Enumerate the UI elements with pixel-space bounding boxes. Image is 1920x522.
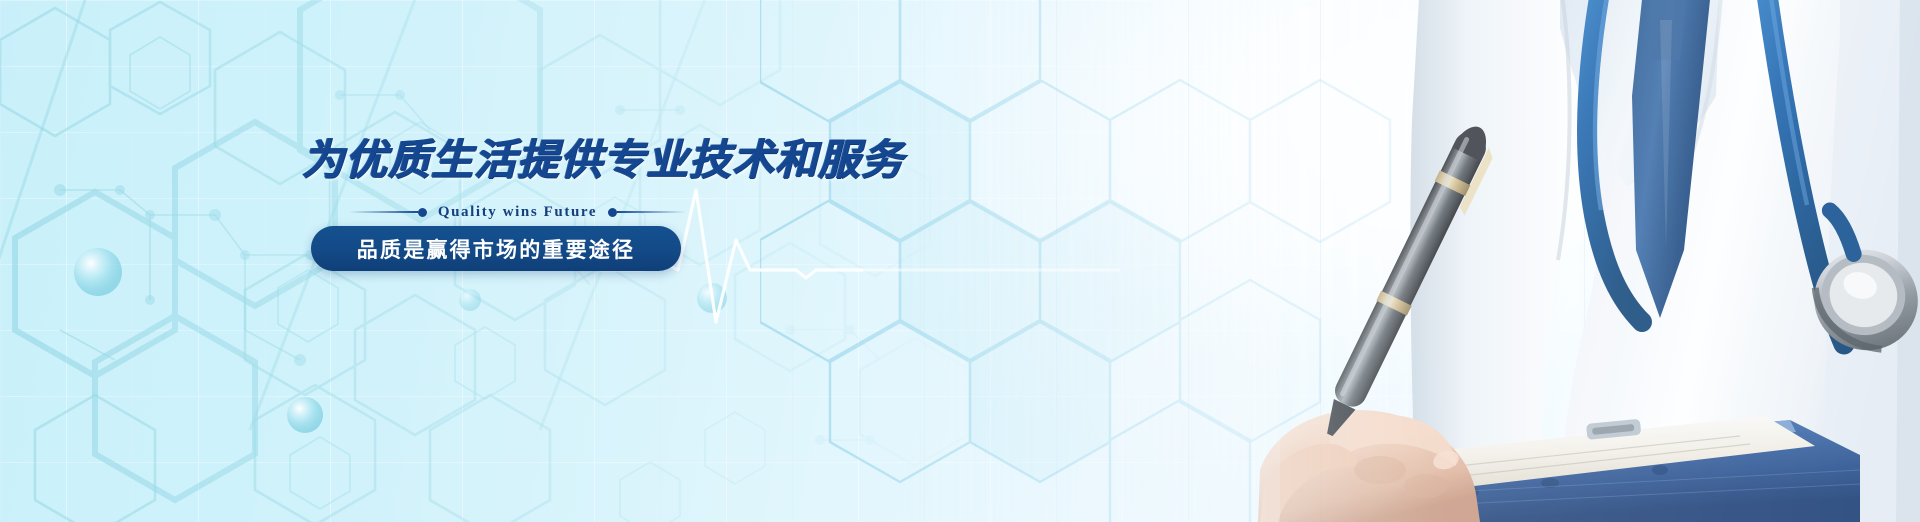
- hero-copy: 为优质生活提供专业技术和服务 Quality wins Future 品质是赢得…: [0, 0, 900, 522]
- slogan-button-label: 品质是赢得市场的重要途径: [357, 234, 635, 264]
- hero-banner: 为优质生活提供专业技术和服务 Quality wins Future 品质是赢得…: [0, 0, 1920, 522]
- tagline-rule-right: [617, 211, 685, 213]
- doctor-photo: [860, 0, 1920, 522]
- page-title: 为优质生活提供专业技术和服务: [302, 126, 904, 187]
- tagline-dot-left: [418, 208, 427, 217]
- tagline-dot-right: [608, 208, 617, 217]
- tagline-row: Quality wins Future: [350, 201, 685, 223]
- slogan-button[interactable]: 品质是赢得市场的重要途径: [311, 226, 681, 271]
- tagline-english: Quality wins Future: [427, 204, 608, 221]
- tagline-rule-left: [350, 211, 418, 213]
